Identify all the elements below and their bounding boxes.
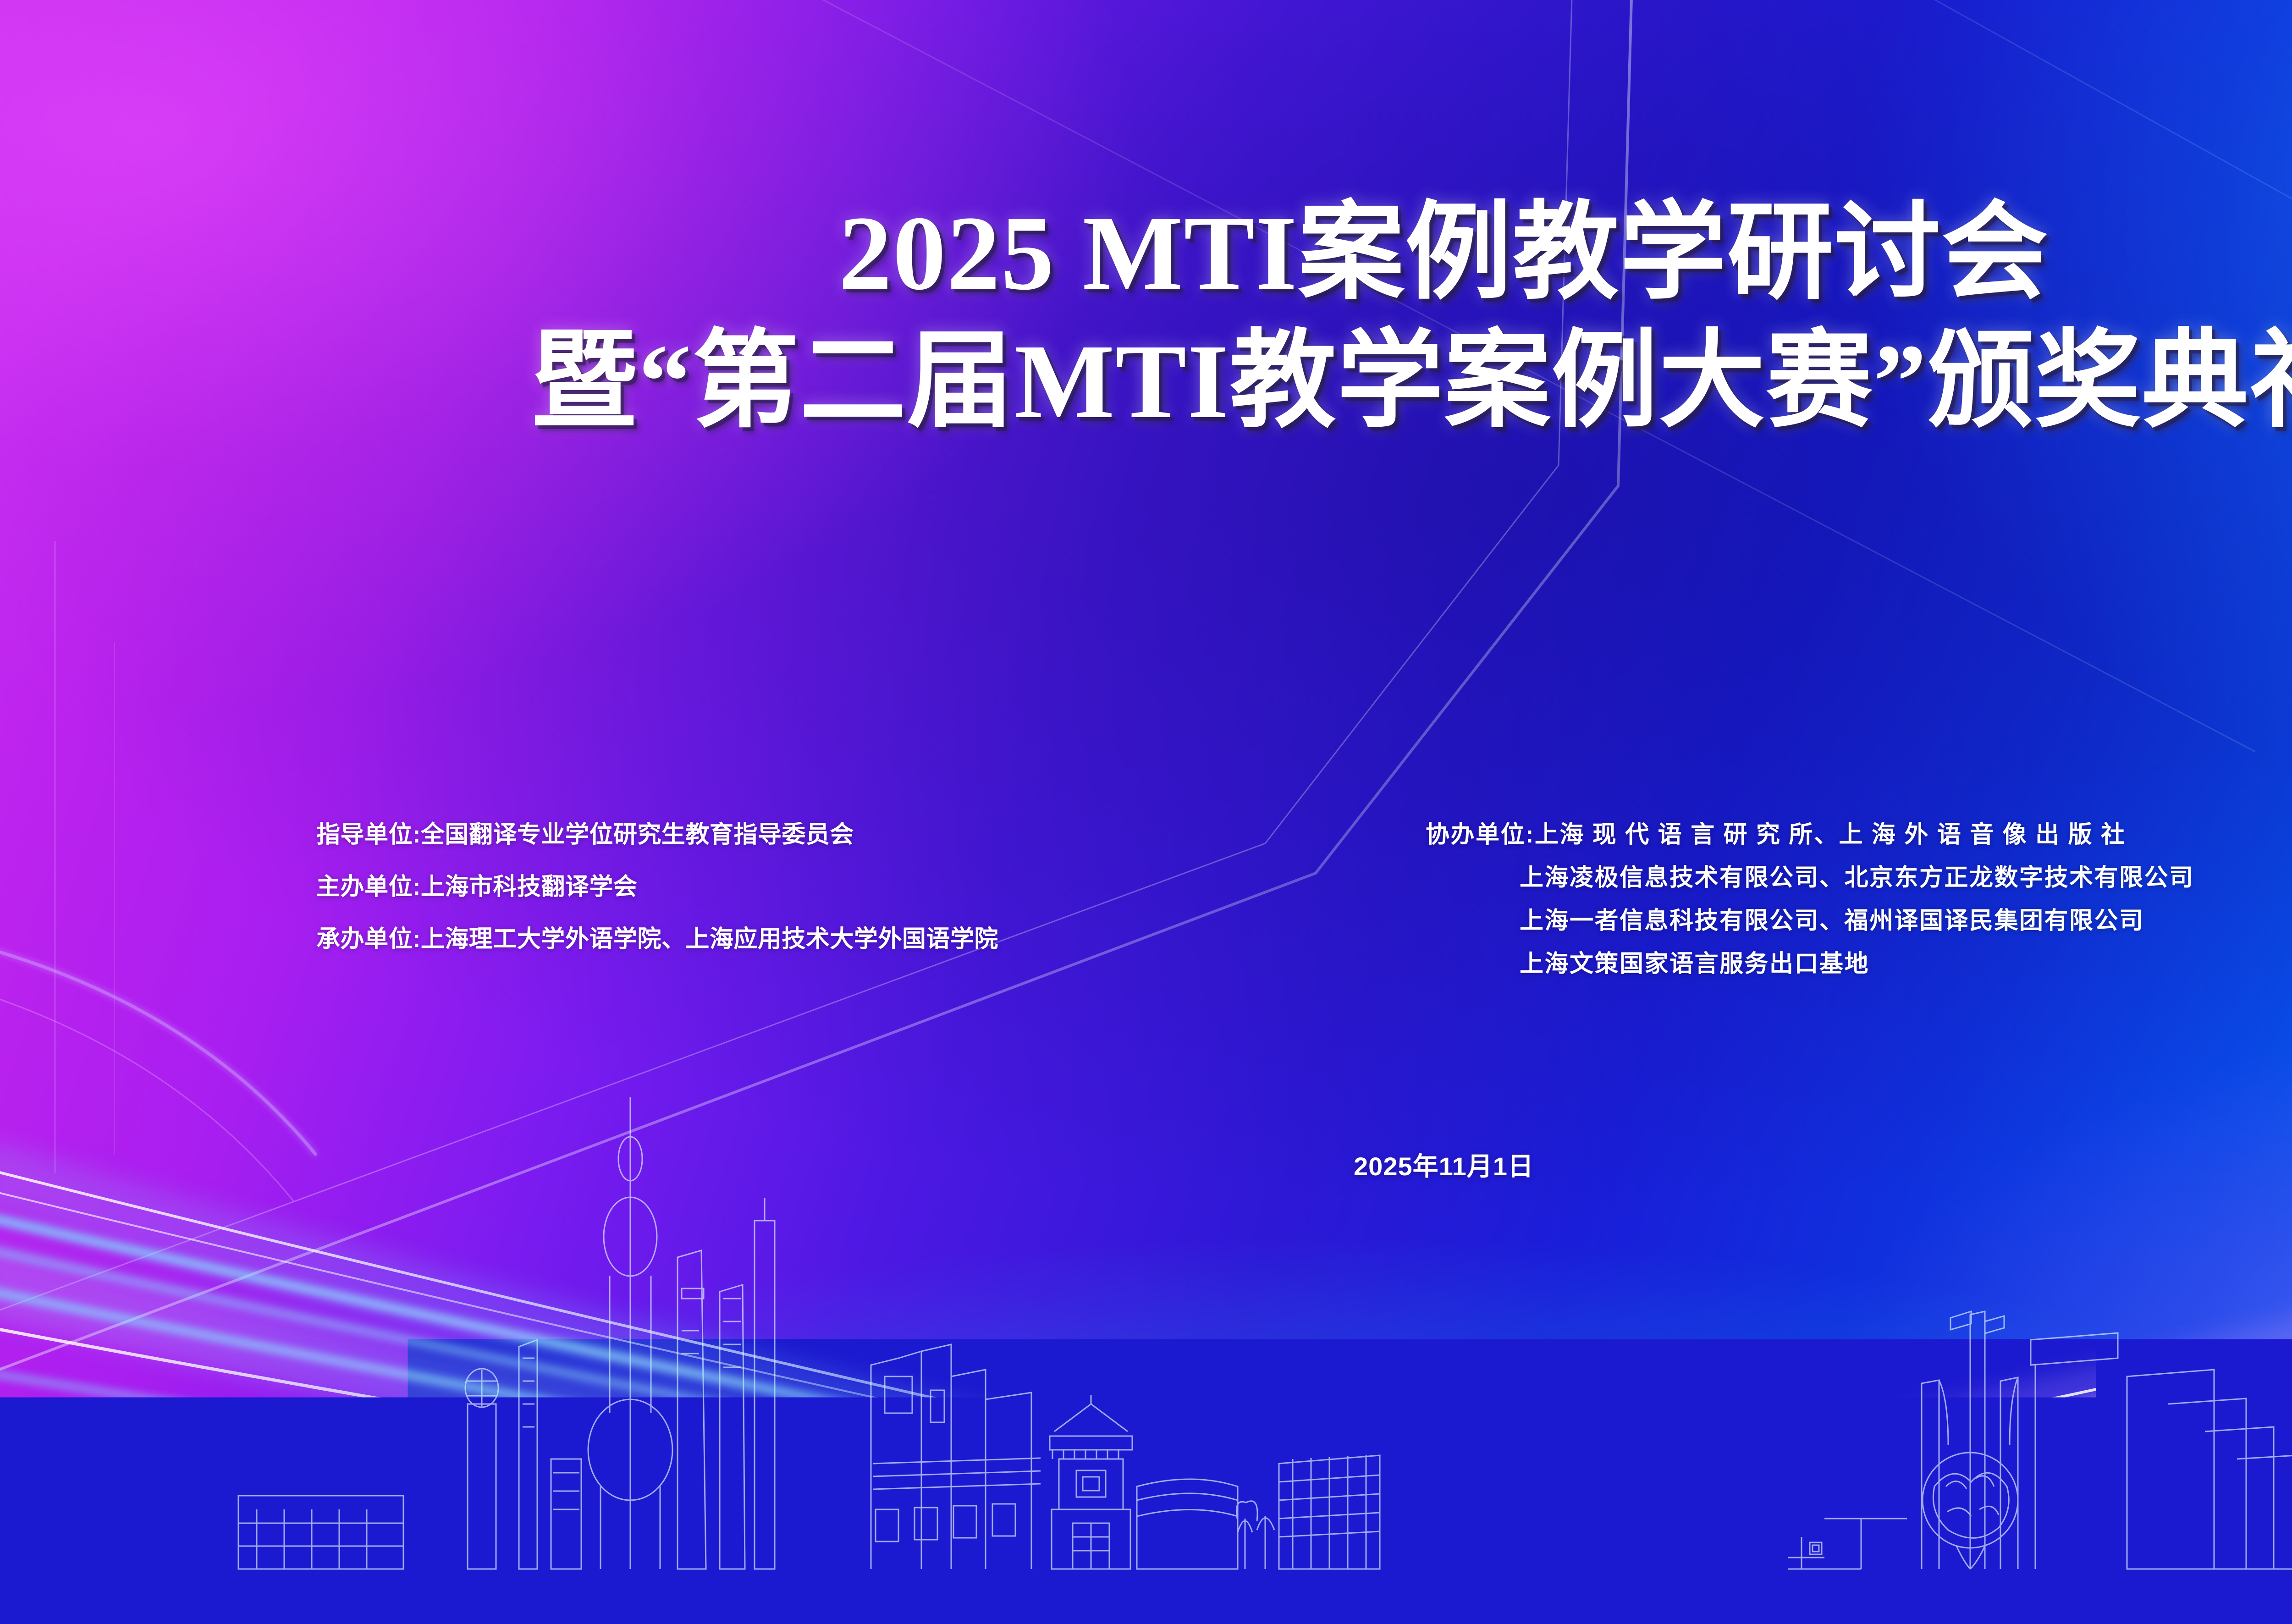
coorganizer-line-3: 上海一者信息科技有限公司、福州译国译民集团有限公司 — [1426, 909, 2194, 933]
conference-banner: 2025 MTI案例教学研讨会 暨“第二届MTI教学案例大赛”颁奖典礼 指导单位… — [0, 0, 2292, 1624]
guidance-unit-line: 指导单位:全国翻译专业学位研究生教育指导委员会 — [316, 823, 998, 847]
event-date: 2025年11月1日 — [0, 1146, 2292, 1183]
page-title: 2025 MTI案例教学研讨会 — [0, 197, 2292, 310]
coorganizer-line-1: 协办单位:上海 现 代 语 言 研 究 所、上 海 外 语 音 像 出 版 社 — [1426, 823, 2194, 847]
title-block: 2025 MTI案例教学研讨会 暨“第二届MTI教学案例大赛”颁奖典礼 — [0, 197, 2292, 438]
coorganizer-line-4: 上海文策国家语言服务出口基地 — [1426, 952, 2194, 976]
organizers-right-column: 协办单位:上海 现 代 语 言 研 究 所、上 海 外 语 音 像 出 版 社 … — [1426, 823, 2194, 995]
coorganizer-line-2: 上海凌极信息技术有限公司、北京东方正龙数字技术有限公司 — [1426, 866, 2194, 890]
stone-inscription: 上海应用技术大学 — [1302, 1457, 1585, 1510]
host-unit-line: 主办单位:上海市科技翻译学会 — [316, 875, 998, 899]
page-subtitle: 暨“第二届MTI教学案例大赛”颁奖典礼 — [0, 325, 2292, 438]
campus-entrance-stone: 上海应用技术大学 — [1242, 1431, 1646, 1546]
organizing-unit-line: 承办单位:上海理工大学外语学院、上海应用技术大学外国语学院 — [316, 927, 998, 951]
organizers-block: 指导单位:全国翻译专业学位研究生教育指导委员会 主办单位:上海市科技翻译学会 承… — [0, 823, 2292, 1116]
organizers-left-column: 指导单位:全国翻译专业学位研究生教育指导委员会 主办单位:上海市科技翻译学会 承… — [316, 823, 998, 980]
